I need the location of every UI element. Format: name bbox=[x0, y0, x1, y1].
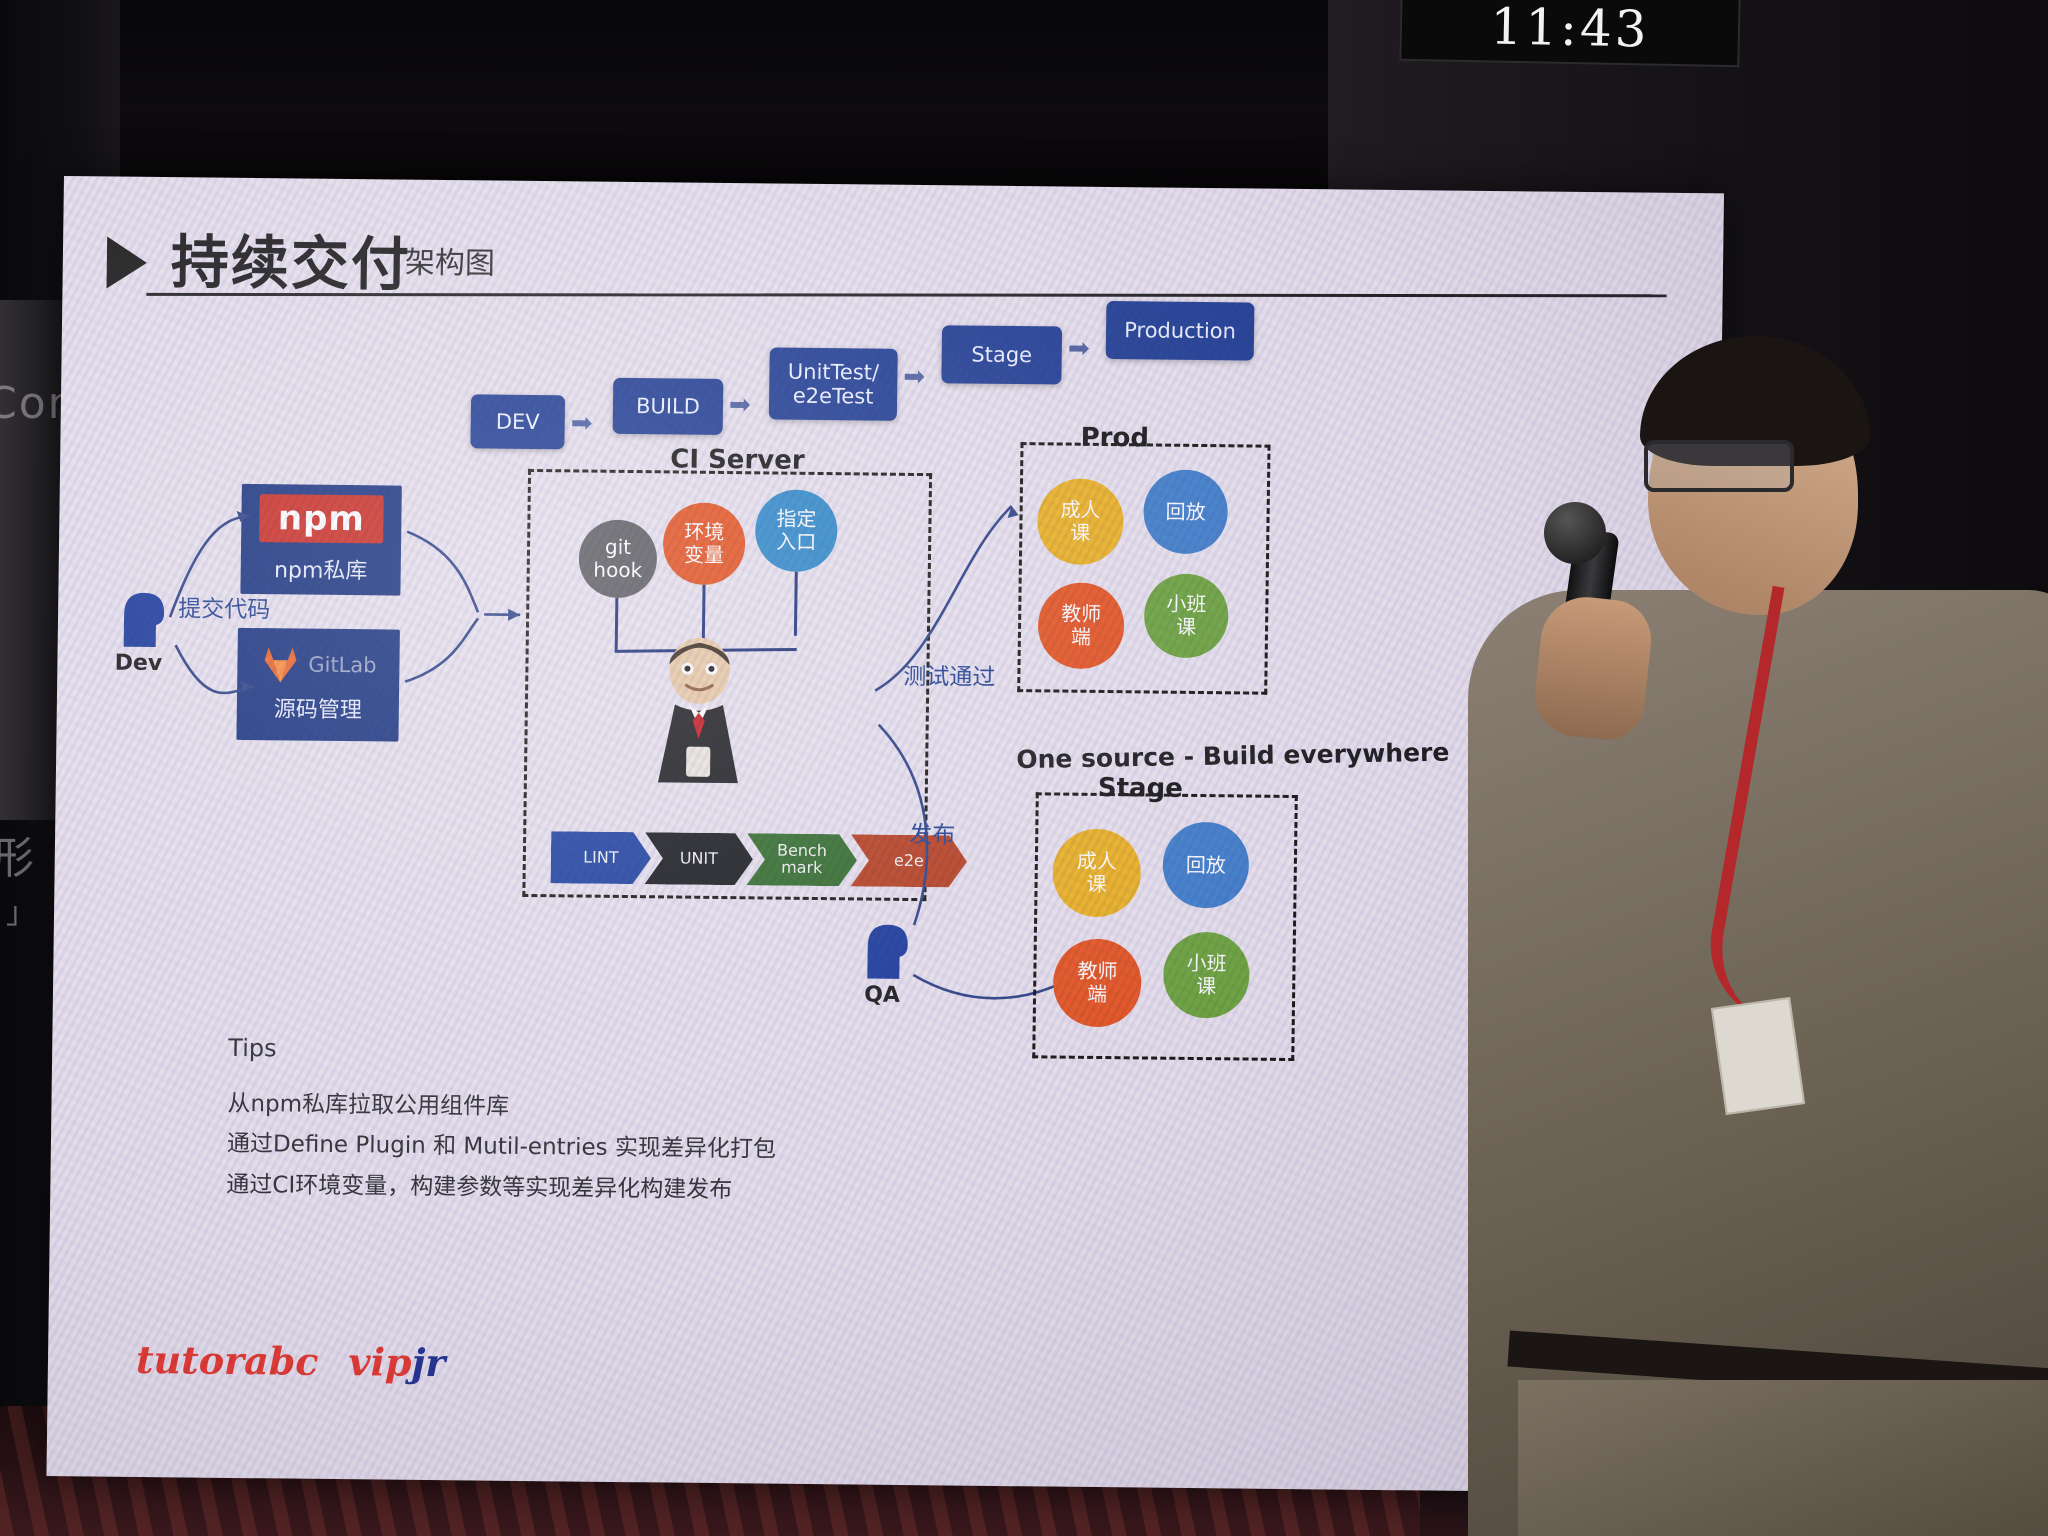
pipeline-step-label: Production bbox=[1124, 318, 1236, 343]
ci-node-label-2: 变量 bbox=[684, 544, 724, 567]
env-circle-label-2: 课 bbox=[1196, 975, 1216, 998]
pipeline-step-stage: Stage bbox=[941, 325, 1062, 384]
speaker-badge bbox=[1711, 997, 1805, 1115]
page-title: 持续交付 bbox=[170, 215, 411, 302]
actor-qa-label: QA bbox=[864, 983, 900, 1008]
actor-qa: QA bbox=[853, 920, 912, 1015]
env-label-stage: Stage bbox=[1098, 773, 1183, 804]
env-circle-label-1: 教师 bbox=[1061, 603, 1101, 626]
env-label-prod: Prod bbox=[1080, 423, 1149, 454]
tips-heading: Tips bbox=[228, 1034, 777, 1068]
triangle-bullet-icon bbox=[106, 236, 147, 288]
gitlab-box: GitLab 源码管理 bbox=[236, 628, 400, 742]
actor-dev: Dev bbox=[109, 589, 168, 684]
env-circle-label-1: 小班 bbox=[1186, 952, 1226, 975]
pipeline-step-label-2: e2eTest bbox=[793, 384, 874, 409]
ci-server-label: CI Server bbox=[670, 444, 805, 475]
chevron-lint: LINT bbox=[551, 831, 652, 884]
env-circle-label-1: 小班 bbox=[1166, 593, 1206, 616]
npm-registry-label: npm私库 bbox=[274, 552, 368, 585]
ci-node-label-2: hook bbox=[593, 559, 642, 583]
ci-node-label-2: 入口 bbox=[776, 531, 816, 554]
env-region-stage bbox=[1032, 792, 1298, 1061]
chevron-benchmark: Bench mark bbox=[747, 833, 858, 886]
npm-registry-box: npm npm私库 bbox=[240, 484, 401, 596]
pipeline-step-label: UnitTest/ bbox=[788, 359, 880, 384]
tips-line: 通过CI环境变量，构建参数等实现差异化构建发布 bbox=[226, 1164, 776, 1210]
chevron-unit: UNIT bbox=[645, 832, 754, 885]
pipeline-step-unittest: UnitTest/ e2eTest bbox=[769, 347, 898, 420]
speaker-pants bbox=[1518, 1380, 2048, 1536]
clock-time: 11:43 bbox=[1490, 0, 1650, 59]
person-head-icon bbox=[110, 589, 169, 652]
chevron-label-2: mark bbox=[781, 860, 822, 877]
pipeline-step-label: DEV bbox=[496, 409, 540, 434]
npm-logo-icon: npm bbox=[259, 494, 384, 543]
wall-clock: 11:43 bbox=[1399, 0, 1740, 67]
tips-line: 从npm私库拉取公用组件库 bbox=[227, 1084, 777, 1130]
env-circle-label-1: 成人 bbox=[1060, 499, 1100, 522]
jenkins-butler-icon bbox=[634, 634, 764, 785]
env-circle-label-1: 回放 bbox=[1165, 500, 1205, 523]
env-circle-label-1: 教师 bbox=[1077, 960, 1117, 983]
vipjr-logo: vipjr bbox=[348, 1339, 445, 1385]
speaker-hand bbox=[1531, 593, 1655, 744]
env-circle-label-2: 课 bbox=[1086, 873, 1106, 896]
footer-logos: tutorabc vipjr bbox=[136, 1337, 446, 1385]
annotation-submit-code: 提交代码 bbox=[178, 589, 270, 624]
pipeline-step-label: Stage bbox=[971, 342, 1032, 367]
pipeline-arrow-icon: ➡ bbox=[571, 407, 593, 438]
actor-dev-label: Dev bbox=[114, 651, 162, 676]
pipeline-step-build: BUILD bbox=[613, 378, 724, 435]
gitlab-label: 源码管理 bbox=[274, 691, 362, 724]
delivery-pipeline: DEV ➡ BUILD ➡ UnitTest/ e2eTest ➡ Stage bbox=[470, 298, 1472, 479]
ci-stage-chevrons: LINT UNIT Bench mark e2e bbox=[551, 831, 912, 887]
pipeline-step-production: Production bbox=[1106, 301, 1255, 361]
vipjr-logo-vip: vip bbox=[348, 1339, 412, 1385]
photo-of-projected-slide: Con 形 」 LiveVideoStack 11:43 持续交付 架构图 DE… bbox=[0, 0, 2048, 1536]
chevron-label: LINT bbox=[583, 849, 619, 866]
ci-node-label-1: 指定 bbox=[776, 508, 816, 531]
env-circle-label-2: 端 bbox=[1071, 626, 1091, 649]
slide-header: 持续交付 架构图 bbox=[84, 188, 1679, 315]
page-subtitle: 架构图 bbox=[405, 238, 496, 283]
annotation-release: 发布 bbox=[909, 815, 955, 849]
gitlab-fox-icon bbox=[260, 645, 301, 683]
annotation-test-passed: 测试通过 bbox=[903, 657, 995, 692]
tutorabc-logo: tutorabc bbox=[136, 1337, 319, 1384]
speaker-glasses bbox=[1644, 440, 1794, 492]
chevron-label: UNIT bbox=[680, 850, 718, 867]
gitlab-logo-row: GitLab bbox=[260, 645, 377, 684]
chevron-label: e2e bbox=[894, 852, 924, 869]
env-circle-label-2: 课 bbox=[1070, 522, 1090, 545]
env-circle-label-2: 课 bbox=[1176, 616, 1196, 639]
tips-line: 通过Define Plugin 和 Mutil-entries 实现差异化打包 bbox=[227, 1124, 777, 1170]
env-circle-label-2: 端 bbox=[1087, 983, 1107, 1006]
gitlab-wordmark: GitLab bbox=[308, 653, 377, 678]
pipeline-step-dev: DEV bbox=[470, 394, 565, 449]
pipeline-arrow-icon: ➡ bbox=[729, 389, 751, 420]
env-circle-label-1: 回放 bbox=[1186, 853, 1226, 876]
pipeline-arrow-icon: ➡ bbox=[903, 361, 925, 392]
env-circle-label-1: 成人 bbox=[1077, 850, 1117, 873]
tips-block: Tips 从npm私库拉取公用组件库 通过Define Plugin 和 Mut… bbox=[226, 1034, 777, 1211]
vipjr-logo-jr: jr bbox=[411, 1340, 445, 1385]
speaker-person bbox=[1348, 330, 2048, 1536]
ci-node-label-1: 环境 bbox=[684, 521, 724, 544]
person-head-icon bbox=[853, 920, 912, 983]
ci-node-label-1: git bbox=[605, 536, 631, 559]
pipeline-arrow-icon: ➡ bbox=[1068, 333, 1090, 364]
pipeline-step-label: BUILD bbox=[636, 394, 700, 419]
